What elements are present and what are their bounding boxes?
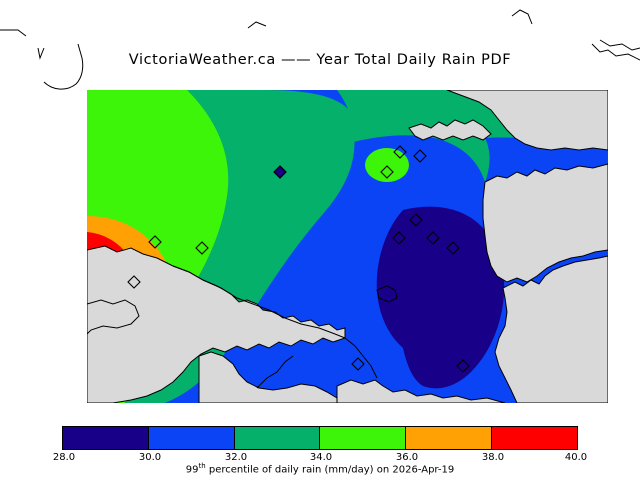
coastline-fragment-top2 xyxy=(248,22,266,28)
caption-prefix: 99 xyxy=(186,464,199,475)
colorbar-band-1 xyxy=(149,427,235,449)
colorbar-band-5 xyxy=(492,427,577,449)
coastline-fragment-top3 xyxy=(512,10,532,24)
caption-superscript: th xyxy=(199,462,206,470)
coastline-fragment-right xyxy=(600,40,640,50)
contour-band-34-36-north-patch xyxy=(365,148,409,182)
colorbar-band-2 xyxy=(235,427,321,449)
colorbar-band-3 xyxy=(320,427,406,449)
colorbar[interactable] xyxy=(62,426,578,450)
contour-map xyxy=(87,90,608,403)
coastline-fragment-top xyxy=(0,30,26,36)
colorbar-band-4 xyxy=(406,427,492,449)
colorbar-caption: 99th percentile of daily rain (mm/day) o… xyxy=(0,462,640,475)
colorbar-band-0 xyxy=(63,427,149,449)
page-title: VictoriaWeather.ca —— Year Total Daily R… xyxy=(0,52,640,68)
caption-rest: percentile of daily rain (mm/day) on 202… xyxy=(206,464,455,475)
map-plot xyxy=(87,90,608,403)
